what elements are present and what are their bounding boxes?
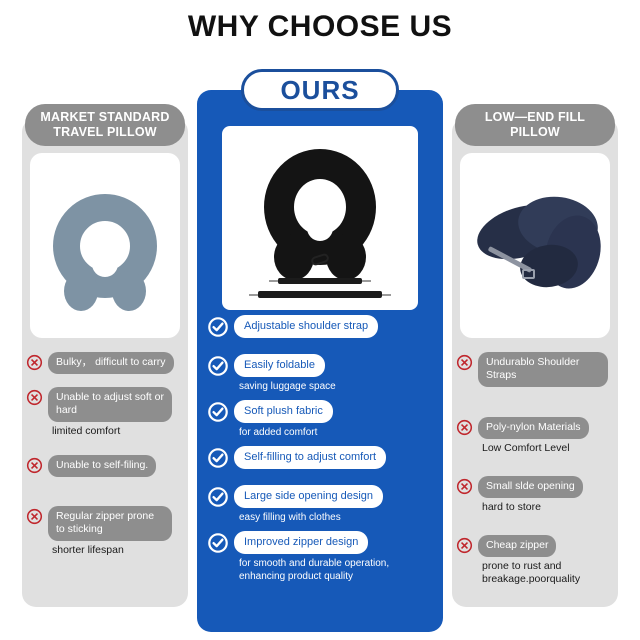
- list-item-label: Easily foldable: [234, 354, 325, 377]
- pillow-lobe-right: [112, 271, 146, 311]
- list-item-note: for smooth and durable operation, enhanc…: [234, 557, 414, 583]
- list-item: Cheap zipper prone to rust and breakage.…: [452, 535, 618, 586]
- list-item-body: Unable to adjust soft or hard limited co…: [48, 387, 172, 438]
- right-product-image-card: [460, 153, 610, 338]
- list-item-label: Poly-nylon Materials: [478, 417, 589, 439]
- navy-pillow-image: [460, 153, 610, 338]
- x-circle-icon: [456, 354, 473, 371]
- list-item-label: Self-filling to adjust comfort: [234, 446, 386, 469]
- check-circle-icon: [207, 316, 229, 338]
- list-item: Unable to self-filing.: [22, 455, 188, 477]
- list-item-body: Large side opening design easy filling w…: [234, 485, 383, 524]
- list-item-body: Self-filling to adjust comfort: [234, 446, 386, 469]
- center-product-image-card: [222, 126, 418, 310]
- ours-badge-label: OURS: [280, 75, 359, 106]
- list-item: Large side opening design easy filling w…: [207, 485, 443, 524]
- column-market-standard: MARKET STANDARD TRAVEL PILLOW Bulky， dif…: [22, 104, 188, 338]
- list-item-note: Low Comfort Level: [478, 442, 570, 455]
- list-item-note: hard to store: [478, 501, 541, 514]
- x-circle-icon: [456, 419, 473, 436]
- list-item-label: Small slde opening: [478, 476, 583, 498]
- list-item-label: Cheap zipper: [478, 535, 556, 557]
- list-item-label: Improved zipper design: [234, 531, 368, 554]
- check-circle-icon: [207, 401, 229, 423]
- x-circle-icon: [26, 508, 43, 525]
- pillow-lobe-left: [274, 234, 314, 280]
- list-item-body: Soft plush fabric for added comfort: [234, 400, 333, 439]
- x-circle-icon: [26, 389, 43, 406]
- strap-tip-left: [249, 294, 258, 296]
- list-item-note: prone to rust and breakage.poorquality: [478, 560, 608, 586]
- left-header-line1: MARKET STANDARD: [40, 110, 169, 124]
- list-item: Undurablo Shoulder Straps: [452, 352, 618, 387]
- pillow-opening: [92, 237, 118, 277]
- list-item-body: Improved zipper design for smooth and du…: [234, 531, 414, 583]
- right-header-line2: PILLOW: [510, 125, 560, 139]
- left-header-line2: TRAVEL PILLOW: [53, 125, 157, 139]
- ours-badge: OURS: [241, 69, 399, 111]
- right-header-line1: LOW—END FILL: [485, 110, 585, 124]
- grey-travel-pillow-image: [30, 153, 180, 338]
- left-product-image-card: [30, 153, 180, 338]
- list-item: Soft plush fabric for added comfort: [207, 400, 443, 439]
- list-item-body: Bulky， difficult to carry: [48, 352, 174, 374]
- strap-tip-left: [269, 280, 278, 282]
- list-item: Adjustable shoulder strap: [207, 315, 443, 338]
- list-item: Regular zipper prone to sticking shorter…: [22, 506, 188, 557]
- list-item: Improved zipper design for smooth and du…: [207, 531, 443, 583]
- right-column-header: LOW—END FILL PILLOW: [455, 104, 615, 146]
- x-circle-icon: [26, 354, 43, 371]
- list-item-note: saving luggage space: [234, 380, 336, 393]
- pillow-lobe-left: [64, 271, 98, 311]
- list-item: Unable to adjust soft or hard limited co…: [22, 387, 188, 438]
- x-circle-icon: [456, 478, 473, 495]
- shoulder-strap-upper: [278, 278, 362, 284]
- check-circle-icon: [207, 447, 229, 469]
- list-item-body: Regular zipper prone to sticking shorter…: [48, 506, 172, 557]
- column-low-end-fill: LOW—END FILL PILLOW Undurablo Shoulder S…: [452, 104, 618, 338]
- strap-tip-right: [382, 294, 391, 296]
- list-item-body: Adjustable shoulder strap: [234, 315, 378, 338]
- list-item: Easily foldable saving luggage space: [207, 354, 443, 393]
- list-item-label: Soft plush fabric: [234, 400, 333, 423]
- check-circle-icon: [207, 486, 229, 508]
- check-circle-icon: [207, 532, 229, 554]
- list-item-note: for added comfort: [234, 426, 317, 439]
- left-column-header: MARKET STANDARD TRAVEL PILLOW: [25, 104, 185, 146]
- list-item-label: Undurablo Shoulder Straps: [478, 352, 608, 387]
- black-pillow-image: [222, 126, 418, 310]
- left-feature-list: Bulky， difficult to carry Unable to adju…: [22, 352, 188, 570]
- list-item-body: Easily foldable saving luggage space: [234, 354, 336, 393]
- check-circle-icon: [207, 355, 229, 377]
- list-item: Bulky， difficult to carry: [22, 352, 188, 374]
- list-item-label: Regular zipper prone to sticking: [48, 506, 172, 541]
- list-item: Self-filling to adjust comfort: [207, 446, 443, 469]
- list-item-body: Small slde opening hard to store: [478, 476, 583, 514]
- list-item-label: Adjustable shoulder strap: [234, 315, 378, 338]
- list-item-body: Unable to self-filing.: [48, 455, 156, 477]
- x-circle-icon: [26, 457, 43, 474]
- list-item-body: Undurablo Shoulder Straps: [478, 352, 608, 387]
- pillow-opening: [307, 201, 333, 241]
- list-item-note: easy filling with clothes: [234, 511, 341, 524]
- center-product-image-card-holder: [222, 126, 418, 310]
- list-item-note: shorter lifespan: [48, 544, 124, 557]
- x-circle-icon: [456, 537, 473, 554]
- list-item-body: Cheap zipper prone to rust and breakage.…: [478, 535, 608, 586]
- list-item: Poly-nylon Materials Low Comfort Level: [452, 417, 618, 455]
- pillow-lobe-right: [326, 234, 366, 280]
- pillow-buckle-icon: [522, 269, 535, 279]
- list-item-label: Large side opening design: [234, 485, 383, 508]
- list-item-body: Poly-nylon Materials Low Comfort Level: [478, 417, 589, 455]
- strap-tip-right: [362, 280, 371, 282]
- page-title: WHY CHOOSE US: [0, 10, 640, 44]
- shoulder-strap-lower: [258, 291, 382, 298]
- right-feature-list: Undurablo Shoulder Straps Poly-nylon Mat…: [452, 352, 618, 599]
- list-item-label: Bulky， difficult to carry: [48, 352, 174, 374]
- list-item-note: limited comfort: [48, 425, 120, 438]
- list-item-label: Unable to self-filing.: [48, 455, 156, 477]
- center-feature-list: Adjustable shoulder strap Easily foldabl…: [197, 315, 443, 592]
- list-item-label: Unable to adjust soft or hard: [48, 387, 172, 422]
- list-item: Small slde opening hard to store: [452, 476, 618, 514]
